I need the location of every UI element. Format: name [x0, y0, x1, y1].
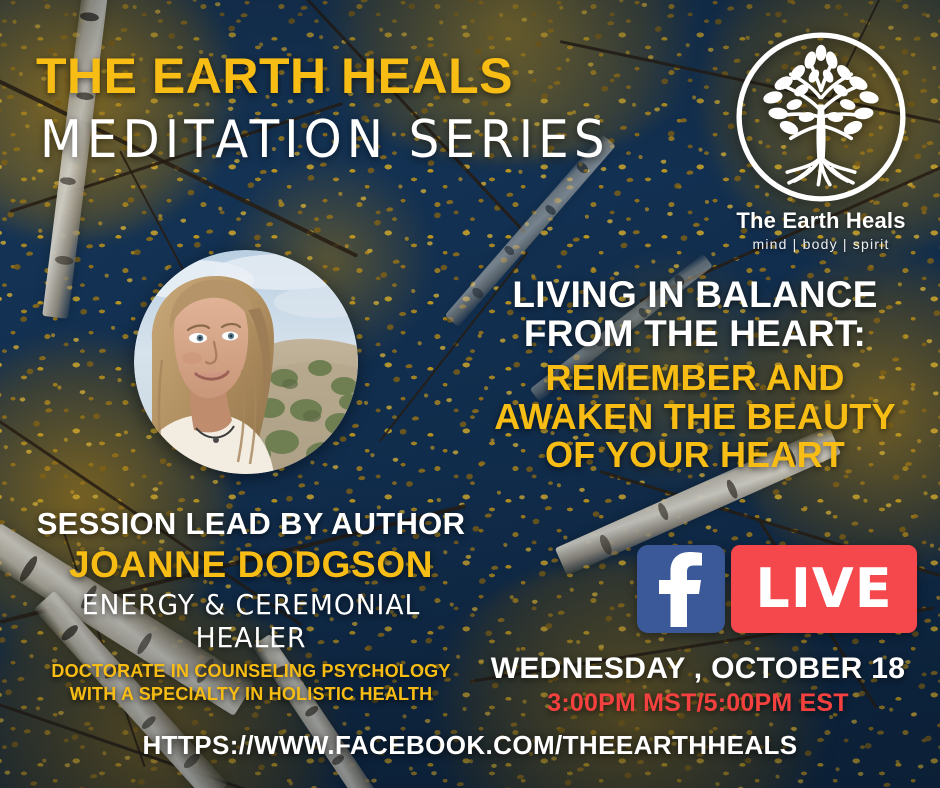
topic-line-3: REMEMBER AND	[480, 359, 910, 397]
brand-logo: The Earth Heals mind | body | spirit	[718, 28, 924, 252]
topic-line-5: OF YOUR HEART	[480, 436, 910, 474]
broadcast-schedule: WEDNESDAY , OCTOBER 18 3:00PM MST/5:00PM…	[470, 652, 926, 718]
speaker-credential-line-2: WITH A SPECIALTY IN HOLISTIC HEALTH	[18, 683, 484, 706]
speaker-name: JOANNE DODGSON	[18, 544, 484, 586]
topic-line-4: AWAKEN THE BEAUTY	[480, 398, 910, 436]
session-topic: LIVING IN BALANCE FROM THE HEART: REMEMB…	[480, 275, 910, 474]
broadcast-time: 3:00PM MST/5:00PM EST	[470, 689, 926, 718]
facebook-f-icon	[654, 551, 708, 627]
speaker-credential-line-1: DOCTORATE IN COUNSELING PSYCHOLOGY	[18, 660, 484, 683]
poster-title-secondary: MEDITATION SERIES	[40, 110, 610, 170]
topic-line-1: LIVING IN BALANCE	[480, 275, 910, 314]
speaker-info: SESSION LEAD BY AUTHOR JOANNE DODGSON EN…	[18, 506, 484, 705]
tree-of-life-circle-icon	[732, 28, 910, 206]
broadcast-url-row: HTTPS://WWW.FACEBOOK.COM/THEEARTHHEALS	[0, 730, 940, 761]
broadcast-url[interactable]: HTTPS://WWW.FACEBOOK.COM/THEEARTHHEALS	[0, 730, 940, 761]
broadcast-date: WEDNESDAY , OCTOBER 18	[470, 652, 926, 686]
logo-tagline: mind | body | spirit	[718, 236, 924, 252]
logo-brand-name: The Earth Heals	[718, 208, 924, 234]
poster-content: THE EARTH HEALS MEDITATION SERIES	[0, 0, 940, 788]
speaker-credentials: DOCTORATE IN COUNSELING PSYCHOLOGY WITH …	[18, 660, 484, 705]
speaker-portrait-photo	[134, 250, 358, 474]
speaker-portrait	[134, 250, 358, 474]
topic-line-2: FROM THE HEART:	[480, 314, 910, 353]
speaker-lead-in: SESSION LEAD BY AUTHOR	[18, 506, 484, 542]
live-label: LIVE	[755, 562, 892, 616]
speaker-role: ENERGY & CEREMONIAL HEALER	[30, 588, 473, 654]
poster-title-primary: THE EARTH HEALS	[36, 47, 513, 105]
facebook-logo-tile[interactable]	[637, 545, 725, 633]
live-label-tile[interactable]: LIVE	[731, 545, 917, 633]
facebook-live-badge[interactable]: LIVE	[637, 545, 917, 633]
event-poster: THE EARTH HEALS MEDITATION SERIES	[0, 0, 940, 788]
